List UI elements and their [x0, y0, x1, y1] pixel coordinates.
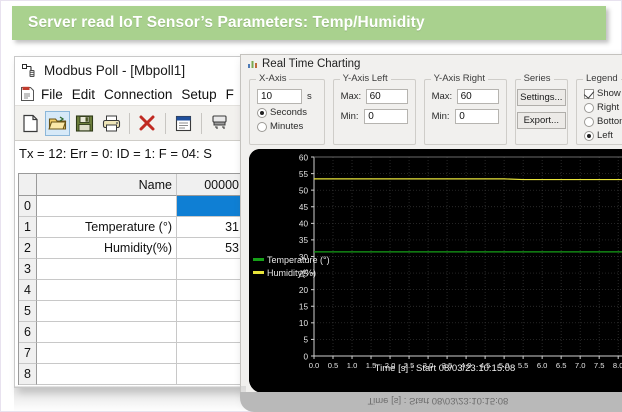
legend-swatch-icon — [253, 271, 264, 274]
series-group: Series Settings... Export... — [515, 79, 568, 145]
modbus-toolbar[interactable] — [15, 105, 247, 141]
table-row[interactable]: 6 — [19, 322, 246, 343]
legend-position-bottom-radio[interactable]: Bottom — [584, 116, 622, 127]
x-axis-span-input[interactable]: 10 — [257, 89, 302, 104]
row-index: 5 — [19, 301, 37, 322]
menu-setup[interactable]: Setup — [181, 87, 216, 102]
checkbox-show-legend-icon[interactable] — [584, 89, 594, 99]
read-write-icon[interactable] — [207, 111, 232, 136]
x-axis-unit-label: s — [307, 91, 312, 102]
cell-value[interactable] — [177, 280, 245, 301]
row-index: 1 — [19, 217, 37, 238]
x-axis-group-label: X-Axis — [256, 73, 289, 84]
table-row[interactable]: 4 — [19, 280, 246, 301]
legend-label: Humidity(%) — [267, 268, 316, 278]
y-right-max-label: Max: — [432, 91, 452, 102]
row-index: 3 — [19, 259, 37, 280]
modbus-poll-window[interactable]: Modbus Poll - [Mbpoll1] File Edit Connec… — [14, 56, 248, 388]
y-left-min-row: Min: 0 — [341, 109, 408, 124]
y-left-max-input[interactable]: 60 — [366, 89, 408, 104]
legend-position-right-radio[interactable]: Right — [584, 102, 622, 113]
reflection-text: Time [s] : Start 08/03/23:10:15:08 — [368, 395, 509, 406]
modbus-titlebar[interactable]: Modbus Poll - [Mbpoll1] — [15, 57, 247, 83]
svg-text:0: 0 — [303, 352, 308, 361]
legend-right-label: Right — [597, 102, 619, 113]
svg-text:10: 10 — [299, 319, 309, 328]
cell-value[interactable] — [177, 364, 245, 385]
cell-name[interactable] — [37, 364, 177, 385]
table-row[interactable]: 0 — [19, 196, 246, 217]
y-axis-left-group-label: Y-Axis Left — [340, 73, 391, 84]
cell-value[interactable]: 31 — [177, 217, 245, 238]
row-index: 2 — [19, 238, 37, 259]
legend-position-left-radio[interactable]: Left — [584, 130, 622, 141]
cell-name[interactable] — [37, 259, 177, 280]
y-right-max-input[interactable]: 60 — [457, 89, 499, 104]
chart-x-caption: Time [s] : Start 08/03/23:10:15:08 — [249, 363, 622, 374]
row-index: 7 — [19, 343, 37, 364]
real-time-charting-window[interactable]: Real Time Charting X-Axis 10 s Seconds M… — [240, 54, 622, 396]
modbus-icon — [21, 62, 38, 79]
modbus-data-grid[interactable]: Name 00000 01Temperature (°)312Humidity(… — [18, 173, 246, 385]
y-axis-left-group: Y-Axis Left Max: 60 Min: 0 — [333, 79, 416, 145]
series-group-label: Series — [521, 73, 554, 84]
table-row[interactable]: 3 — [19, 259, 246, 280]
toolbar-separator — [165, 113, 166, 134]
save-disk-icon[interactable] — [72, 111, 97, 136]
radio-minutes-icon[interactable] — [257, 122, 267, 132]
y-right-max-row: Max: 60 — [432, 89, 499, 104]
radio-legend-left-icon[interactable] — [584, 131, 594, 141]
row-index: 6 — [19, 322, 37, 343]
x-axis-group: X-Axis 10 s Seconds Minutes — [249, 79, 325, 145]
cell-value[interactable] — [177, 343, 245, 364]
slide-canvas: Server read IoT Sensor’s Parameters: Tem… — [0, 0, 622, 412]
modbus-window-title: Modbus Poll - [Mbpoll1] — [44, 63, 185, 78]
legend-label: Temperature (°) — [267, 255, 330, 265]
table-row[interactable]: 2Humidity(%)53 — [19, 238, 246, 259]
y-left-min-input[interactable]: 0 — [364, 109, 407, 124]
show-legend-label: Show Legend — [597, 88, 622, 99]
cell-name[interactable] — [37, 301, 177, 322]
y-left-max-row: Max: 60 — [341, 89, 408, 104]
chart-legend: Temperature (°)Humidity(%) — [253, 253, 330, 279]
print-icon[interactable] — [99, 111, 124, 136]
chart-icon — [247, 59, 258, 69]
svg-text:5: 5 — [303, 336, 308, 345]
svg-text:60: 60 — [299, 153, 309, 162]
series-settings-button[interactable]: Settings... — [517, 89, 566, 106]
row-index: 0 — [19, 196, 37, 217]
radio-legend-right-icon[interactable] — [584, 103, 594, 113]
x-axis-seconds-label: Seconds — [270, 107, 307, 118]
cell-value[interactable] — [177, 322, 245, 343]
legend-left-label: Left — [597, 130, 613, 141]
y-right-min-input[interactable]: 0 — [455, 109, 498, 124]
cell-name[interactable] — [37, 343, 177, 364]
cell-name[interactable] — [37, 280, 177, 301]
svg-text:55: 55 — [299, 170, 309, 179]
legend-group: Legend Show Legend Right Bottom Left — [576, 79, 622, 145]
cell-value[interactable]: 53 — [177, 238, 245, 259]
grid-header-row: Name 00000 — [19, 174, 246, 196]
table-row[interactable]: 1Temperature (°)31 — [19, 217, 246, 238]
toolbar-separator — [201, 113, 202, 134]
show-legend-checkbox[interactable]: Show Legend — [584, 88, 622, 99]
menu-file[interactable]: File — [41, 87, 63, 102]
y-right-min-label: Min: — [432, 111, 451, 122]
modbus-window-reflection — [14, 386, 246, 412]
new-file-icon[interactable] — [18, 111, 43, 136]
menu-connection[interactable]: Connection — [104, 87, 172, 102]
series-export-button[interactable]: Export... — [517, 112, 566, 129]
menu-functions[interactable]: F — [226, 87, 234, 102]
delete-x-icon[interactable] — [135, 111, 160, 136]
legend-item: Humidity(%) — [253, 266, 330, 279]
cell-name[interactable] — [37, 196, 177, 217]
legend-swatch-icon — [253, 258, 264, 261]
toolbar-separator — [129, 113, 130, 134]
svg-text:50: 50 — [299, 186, 309, 195]
document-icon — [20, 86, 35, 102]
cell-name[interactable] — [37, 322, 177, 343]
modbus-menubar[interactable]: File Edit Connection Setup F — [15, 83, 247, 105]
svg-text:40: 40 — [299, 220, 309, 229]
chart-canvas-area[interactable]: 0510152025303540455055600.00.51.01.52.02… — [249, 149, 622, 393]
svg-text:45: 45 — [299, 203, 309, 212]
y-axis-right-group: Y-Axis Right Max: 60 Min: 0 — [424, 79, 507, 145]
radio-legend-bottom-icon[interactable] — [584, 117, 594, 127]
x-axis-seconds-radio[interactable]: Seconds — [257, 107, 317, 118]
cell-value[interactable] — [177, 259, 245, 280]
grid-header-name[interactable]: Name — [37, 174, 177, 196]
legend-group-label: Legend — [583, 73, 621, 84]
radio-seconds-icon[interactable] — [257, 108, 267, 118]
open-folder-icon[interactable] — [45, 111, 70, 136]
cell-value[interactable] — [177, 301, 245, 322]
row-index: 8 — [19, 364, 37, 385]
y-axis-right-group-label: Y-Axis Right — [431, 73, 488, 84]
legend-bottom-label: Bottom — [597, 116, 622, 127]
slide-title-banner: Server read IoT Sensor’s Parameters: Tem… — [12, 6, 606, 40]
grid-header-index — [19, 174, 37, 196]
x-axis-minutes-radio[interactable]: Minutes — [257, 121, 317, 132]
y-right-min-row: Min: 0 — [432, 109, 499, 124]
cell-name[interactable]: Humidity(%) — [37, 238, 177, 259]
y-left-max-label: Max: — [341, 91, 361, 102]
grid-header-address[interactable]: 00000 — [177, 174, 245, 196]
cell-name[interactable]: Temperature (°) — [37, 217, 177, 238]
charting-titlebar[interactable]: Real Time Charting — [241, 55, 622, 73]
menu-edit[interactable]: Edit — [72, 87, 95, 102]
legend-item: Temperature (°) — [253, 253, 330, 266]
table-row[interactable]: 7 — [19, 343, 246, 364]
table-row[interactable]: 5 — [19, 301, 246, 322]
row-index: 4 — [19, 280, 37, 301]
cell-value[interactable] — [177, 196, 245, 217]
status-text: Tx = 12: Err = 0: ID = 1: F = 04: S — [19, 146, 212, 161]
page-title: Server read IoT Sensor’s Parameters: Tem… — [28, 14, 425, 32]
grid-body[interactable]: 01Temperature (°)312Humidity(%)533456789 — [19, 196, 246, 385]
x-axis-minutes-label: Minutes — [270, 121, 303, 132]
table-row[interactable]: 8 — [19, 364, 246, 385]
y-left-min-label: Min: — [341, 111, 360, 122]
charting-window-title: Real Time Charting — [262, 58, 360, 70]
svg-text:35: 35 — [299, 236, 309, 245]
svg-text:15: 15 — [299, 303, 309, 312]
modbus-status-bar: Tx = 12: Err = 0: ID = 1: F = 04: S — [15, 141, 247, 165]
window-icon[interactable] — [171, 111, 196, 136]
charting-control-panels[interactable]: X-Axis 10 s Seconds Minutes Y-Axis Left — [249, 79, 622, 145]
svg-text:20: 20 — [299, 286, 309, 295]
